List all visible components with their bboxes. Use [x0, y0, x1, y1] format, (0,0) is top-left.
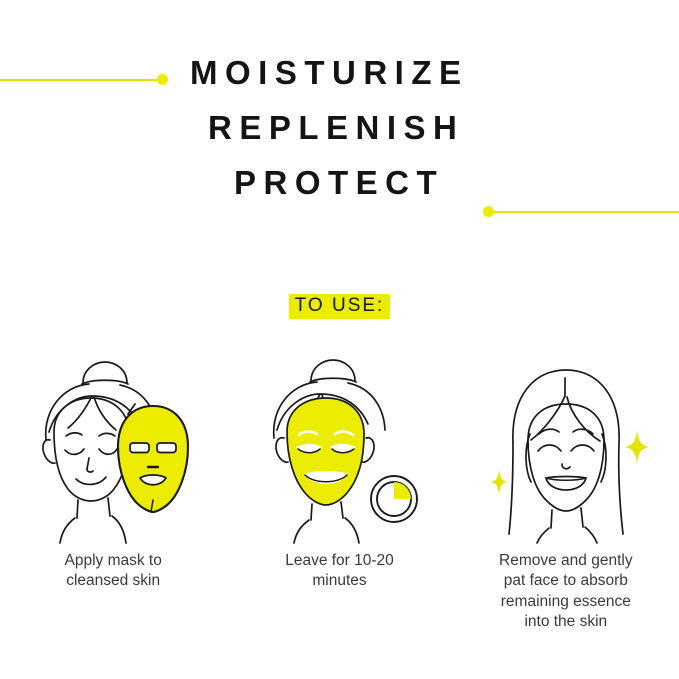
decorative-rule-right — [494, 211, 679, 213]
headline-line-replenish: REPLENISH — [208, 111, 679, 144]
step-1-caption: Apply mask to cleansed skin — [64, 551, 161, 592]
to-use-heading-wrapper: TO USE: — [0, 294, 679, 319]
woman-wearing-sheet-mask-with-timer-icon — [242, 348, 437, 543]
step-1: Apply mask to cleansed skin — [0, 348, 226, 592]
smiling-woman-with-sparkles-icon — [468, 348, 663, 543]
headline-line-protect: PROTECT — [234, 166, 679, 199]
woman-holding-sheet-mask-icon — [16, 348, 211, 543]
step-3-caption: Remove and gently pat face to absorb rem… — [499, 551, 633, 633]
decorative-dot-right — [483, 206, 494, 217]
step-2-caption: Leave for 10-20 minutes — [285, 551, 394, 592]
step-2: Leave for 10-20 minutes — [226, 348, 452, 592]
headline-block: MOISTURIZE REPLENISH PROTECT — [0, 56, 679, 199]
to-use-heading: TO USE: — [289, 294, 391, 319]
step-3: Remove and gently pat face to absorb rem… — [453, 348, 679, 633]
headline-line-moisturize: MOISTURIZE — [190, 56, 679, 89]
instruction-steps: Apply mask to cleansed skin — [0, 348, 679, 633]
